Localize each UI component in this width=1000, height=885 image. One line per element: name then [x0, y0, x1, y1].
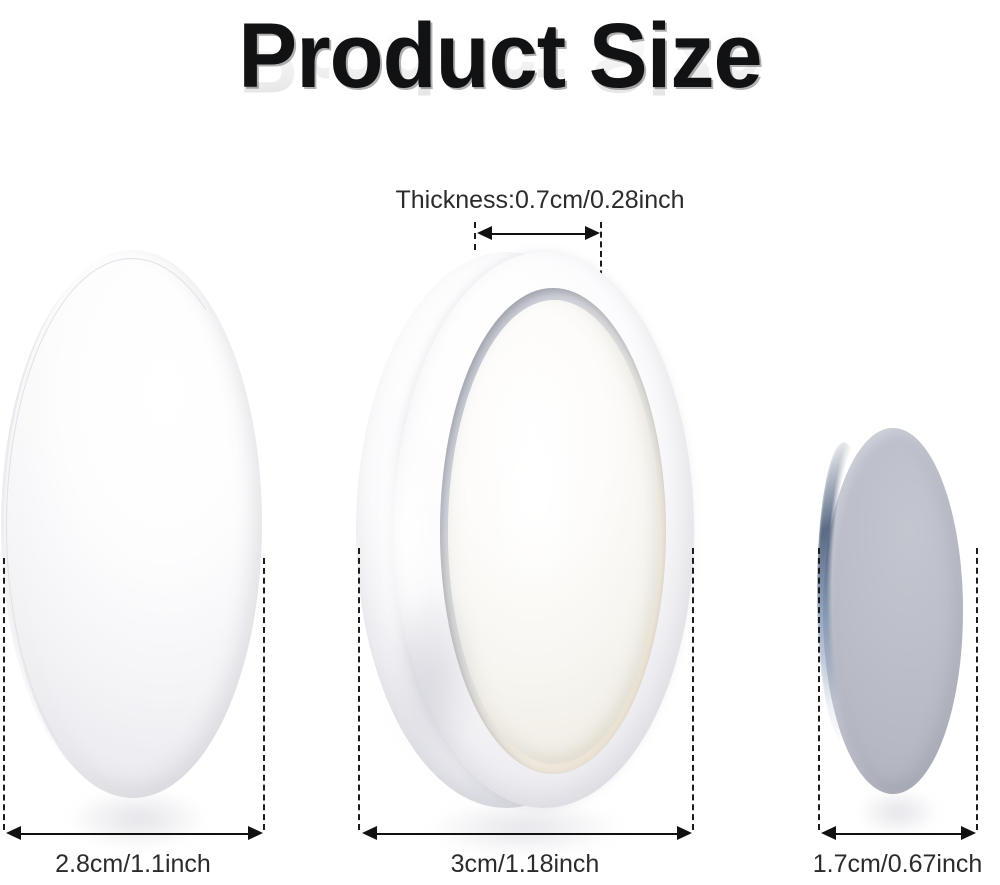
middle-dimension-line [368, 833, 686, 835]
middle-dimension-arrow-right-icon [677, 826, 692, 840]
right-dimension-arrow-left-icon [821, 826, 836, 840]
left-dimension-line [12, 833, 257, 835]
thickness-dimension-line [482, 233, 594, 235]
product-right-disc [819, 428, 963, 796]
thickness-guide-left [474, 222, 476, 250]
middle-puck-side-shadow [374, 552, 494, 802]
right-dimension-arrow-right-icon [961, 826, 976, 840]
right-dimension-line [827, 833, 970, 835]
infographic-canvas: Product Size Product Size Thickness:0.7c… [0, 0, 1000, 885]
middle-dimension-guide-right [692, 548, 694, 830]
product-middle-puck [356, 252, 696, 812]
left-dimension-arrow-left-icon [6, 826, 21, 840]
thickness-label: Thickness:0.7cm/0.28inch [300, 186, 780, 215]
middle-dimension-label: 3cm/1.18inch [355, 850, 695, 879]
middle-dimension-guide-left [358, 548, 360, 830]
right-dimension-guide-left [818, 548, 820, 830]
right-disc-metal-rim-highlight [817, 442, 871, 742]
thickness-label-wrap: Thickness:0.7cm/0.28inch [300, 186, 780, 212]
middle-puck-face-highlight [460, 344, 610, 644]
left-disc-edge-highlight [6, 258, 258, 794]
thickness-arrow-left-icon [477, 226, 492, 240]
page-title: Product Size [20, 8, 980, 104]
title-block: Product Size Product Size [0, 8, 1000, 158]
right-dimension-guide-right [976, 548, 978, 830]
left-dimension-guide-left [3, 558, 5, 830]
product-left-disc [4, 250, 262, 798]
left-dimension-label: 2.8cm/1.1inch [0, 850, 266, 879]
left-dimension-arrow-right-icon [248, 826, 263, 840]
left-dimension-guide-right [263, 558, 265, 830]
right-dimension-label: 1.7cm/0.67inch [795, 850, 1000, 879]
thickness-arrow-right-icon [585, 226, 600, 240]
middle-dimension-arrow-left-icon [362, 826, 377, 840]
